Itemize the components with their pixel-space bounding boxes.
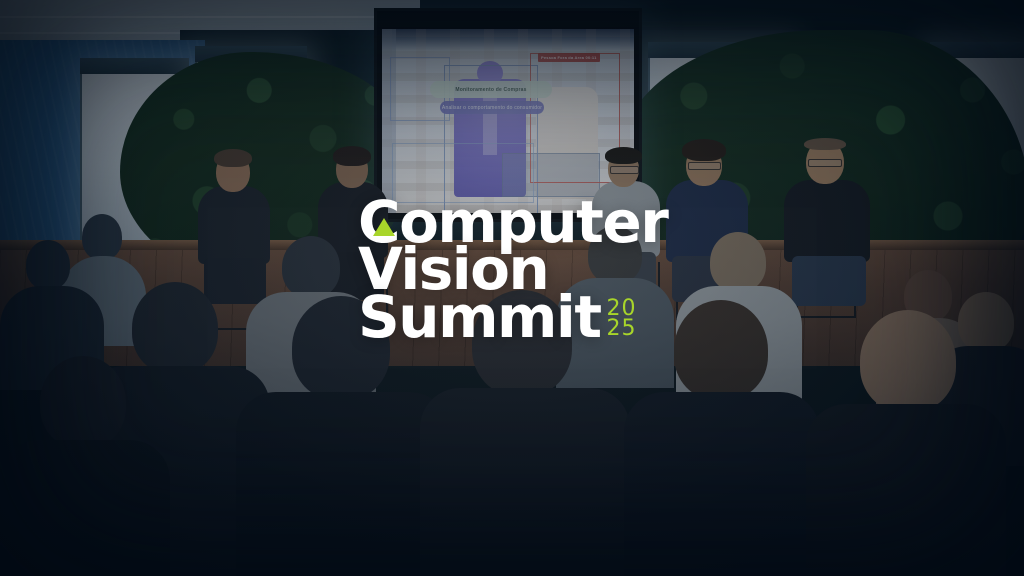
audience-body bbox=[806, 404, 1006, 576]
window-shade bbox=[80, 58, 189, 74]
audience-head bbox=[26, 240, 70, 290]
year-bottom: 25 bbox=[607, 319, 637, 338]
year-badge: 20 25 bbox=[607, 299, 637, 338]
audience-head bbox=[710, 232, 766, 292]
panelist-hair bbox=[214, 149, 252, 167]
audience-head bbox=[674, 300, 768, 400]
panelist-legs bbox=[792, 256, 866, 306]
event-title-lockup: Computer Vision Summit 20 25 bbox=[358, 196, 658, 344]
panelist-hair bbox=[333, 146, 371, 166]
audience-body bbox=[236, 392, 450, 576]
glasses-icon bbox=[610, 166, 639, 174]
title-line-summit: Summit bbox=[358, 291, 601, 344]
glasses-icon bbox=[808, 159, 842, 167]
audience-body bbox=[0, 440, 170, 576]
panelist-hair bbox=[605, 147, 642, 164]
audience-head bbox=[40, 356, 126, 448]
audience-head bbox=[860, 310, 956, 412]
audience-body bbox=[624, 392, 820, 576]
audience-member bbox=[0, 356, 170, 576]
glasses-icon bbox=[688, 162, 721, 170]
panelist-hair bbox=[682, 139, 726, 161]
audience-head bbox=[282, 236, 340, 298]
audience-member bbox=[806, 310, 1006, 576]
play-triangle-icon bbox=[373, 218, 395, 236]
title-summit-row: Summit 20 25 bbox=[358, 291, 658, 344]
panelist-hair bbox=[804, 138, 846, 150]
audience-body bbox=[420, 388, 630, 576]
event-keyframe: Monitoramento de Compras Analisar o comp… bbox=[0, 0, 1024, 576]
